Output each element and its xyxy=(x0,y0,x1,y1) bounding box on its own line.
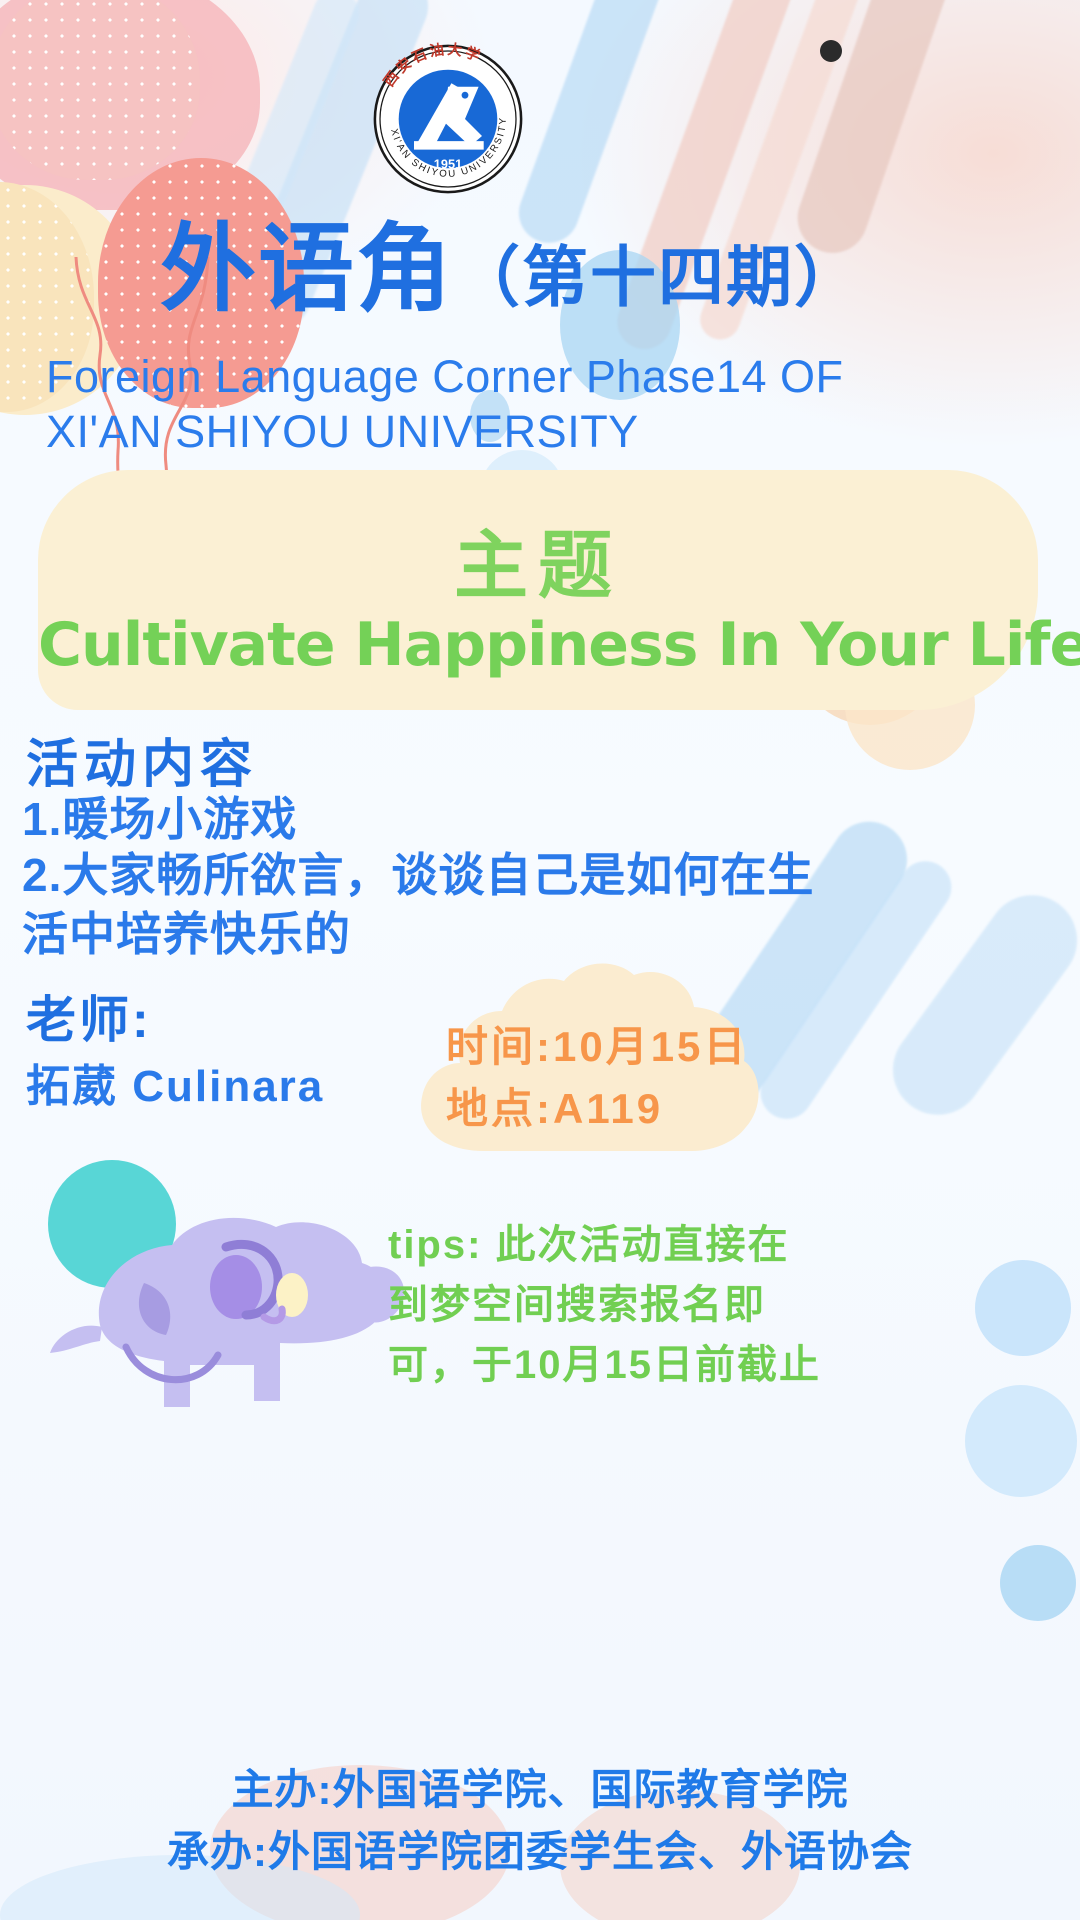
tips-line: tips: 此次活动直接在 xyxy=(388,1212,790,1270)
teacher-label: 老师: xyxy=(26,980,152,1052)
tips-line: 到梦空间搜索报名即 xyxy=(388,1272,766,1330)
content-heading: 活动内容 xyxy=(26,722,258,797)
poster-canvas: 1951 西安石油大学 XI'AN SHIYOU UNIVERSITY 外语角（… xyxy=(0,0,1080,1920)
event-time: 时间:10月15日 xyxy=(446,1013,748,1074)
content-item: 2.大家畅所欲言，谈谈自己是如何在生活中培养快乐的 xyxy=(22,846,822,964)
event-place: 地点:A119 xyxy=(446,1075,663,1136)
co-organizer-line: 承办:外国语学院团委学生会、外语协会 xyxy=(0,1818,1080,1879)
theme-text-en: Cultivate Happiness In Your Life xyxy=(38,610,1038,680)
organizer-line: 主办:外国语学院、国际教育学院 xyxy=(0,1756,1080,1817)
content-item: 1.暖场小游戏 xyxy=(22,790,297,849)
black-dot-icon xyxy=(820,40,842,62)
title-en-line2: XI'AN SHIYOU UNIVERSITY xyxy=(46,405,1046,460)
time-place-cloud: 时间:10月15日 地点:A119 xyxy=(408,955,768,1165)
theme-card: 主题 Cultivate Happiness In Your Life xyxy=(38,470,1038,710)
title-en-line1: Foreign Language Corner Phase14 OF xyxy=(46,350,1046,405)
blue-blob-icon xyxy=(975,1260,1071,1356)
page-title: 外语角（第十四期） xyxy=(160,222,862,318)
university-logo: 1951 西安石油大学 XI'AN SHIYOU UNIVERSITY xyxy=(348,34,548,204)
blue-blob-icon xyxy=(965,1385,1077,1497)
balloon-icon xyxy=(0,0,200,180)
title-en: Foreign Language Corner Phase14 OF XI'AN… xyxy=(46,350,1046,460)
pink-heart-blob-icon xyxy=(0,0,260,210)
theme-label-cn: 主题 xyxy=(38,506,1038,613)
elephant-illustration xyxy=(40,1175,430,1445)
teacher-names: 拓葳 Culinara xyxy=(26,1050,324,1114)
title-cn-phase: （第十四期） xyxy=(454,240,862,314)
tips-line: 可，于10月15日前截止 xyxy=(388,1332,821,1390)
blue-brush-stroke-icon xyxy=(875,877,1080,1132)
title-cn-main: 外语角 xyxy=(160,216,454,323)
blue-blob-icon xyxy=(1000,1545,1076,1621)
